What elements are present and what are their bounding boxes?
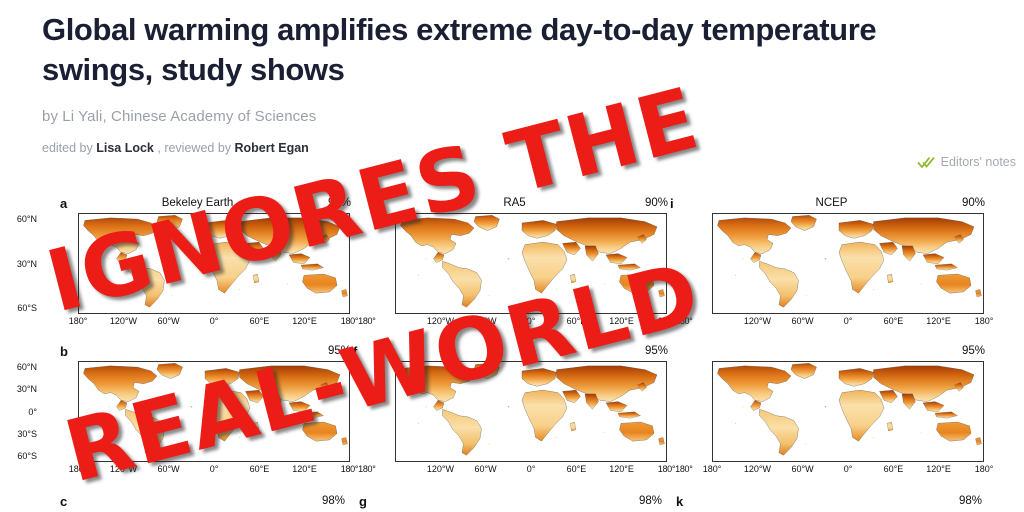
- world-heatmap: [79, 362, 349, 461]
- map-area: [395, 361, 667, 462]
- panel-percentile: 95%: [328, 345, 351, 357]
- map-area: [712, 361, 984, 462]
- panel-letter: k: [676, 494, 683, 509]
- x-axis-labels: 120°W 60°W 0° 60°E 120°E 180°180°: [395, 316, 667, 330]
- reviewer-name[interactable]: Robert Egan: [235, 141, 309, 155]
- x-axis-labels: 180° 120°W 60°W 0° 60°E 120°E 180°: [712, 464, 984, 478]
- map-area: [712, 213, 984, 314]
- figure-panel-j: 95% 180° 120°W 60°W 0° 60°E 120°E 180°: [676, 344, 987, 492]
- figure-row-2: b 95% 60°N 30°N 0° 30°S 60°S 180° 120°W: [42, 344, 1010, 492]
- world-heatmap: [79, 214, 349, 313]
- double-check-icon: [917, 156, 935, 169]
- figure-panel-f: f 95% 120°W 60°W 0° 60°E 120°E 180°180°: [359, 344, 670, 492]
- panel-letter: c: [60, 494, 67, 509]
- panel-percentile: 90%: [962, 197, 985, 209]
- figure-row-3: c 98% g 98% k 98%: [42, 492, 1010, 512]
- map-area: [78, 213, 350, 314]
- editors-notes-link[interactable]: Editors' notes: [917, 155, 1016, 169]
- figure-panel-a: a Bekeley Earth 90% 60°N 30°N 60°S 180° …: [42, 196, 353, 344]
- panel-dataset-title: RA5: [359, 197, 670, 209]
- world-heatmap: [713, 214, 983, 313]
- panel-percentile: 95%: [645, 345, 668, 357]
- panel-percentile: 98%: [322, 495, 345, 507]
- map-frame: [712, 361, 984, 462]
- panel-percentile: 98%: [959, 495, 982, 507]
- map-frame: [78, 361, 350, 462]
- x-axis-labels: 120°W 60°W 0° 60°E 120°E 180°180°: [395, 464, 667, 478]
- map-frame: [712, 213, 984, 314]
- editor-name[interactable]: Lisa Lock: [96, 141, 154, 155]
- editors-notes-label: Editors' notes: [941, 155, 1016, 169]
- panel-letter: g: [359, 494, 367, 509]
- byline: by Li Yali, Chinese Academy of Sciences: [42, 108, 972, 125]
- panel-dataset-title: Bekeley Earth: [42, 197, 353, 209]
- panel-percentile: 98%: [639, 495, 662, 507]
- panel-percentile: 95%: [962, 345, 985, 357]
- x-axis-labels: 120°W 60°W 0° 60°E 120°E 180°: [712, 316, 984, 330]
- world-heatmap: [396, 362, 666, 461]
- panel-percentile: 90%: [645, 197, 668, 209]
- figure-panel-e: RA5 90% 120°W 60°W 0° 60°E 120°E 180°180…: [359, 196, 670, 344]
- credit-line: edited by Lisa Lock , reviewed by Robert…: [42, 141, 972, 155]
- map-frame: [395, 213, 667, 314]
- map-frame: [395, 361, 667, 462]
- world-heatmap: [713, 362, 983, 461]
- figure-panel-b: b 95% 60°N 30°N 0° 30°S 60°S 180° 120°W: [42, 344, 353, 492]
- y-axis-labels: 60°N 30°N 60°S: [6, 213, 40, 314]
- map-area: [395, 213, 667, 314]
- world-heatmap: [396, 214, 666, 313]
- x-axis-labels: 180° 120°W 60°W 0° 60°E 120°E 180°180°: [78, 464, 350, 478]
- map-area: [78, 361, 350, 462]
- panel-percentile: 90%: [328, 197, 351, 209]
- panel-dataset-title: NCEP: [676, 197, 987, 209]
- figure-row-3-strip: c 98% g 98% k 98%: [42, 492, 1010, 512]
- credit-prefix: edited by: [42, 141, 96, 155]
- y-axis-labels: 60°N 30°N 0° 30°S 60°S: [6, 361, 40, 462]
- figure-row-1: a Bekeley Earth 90% 60°N 30°N 60°S 180° …: [42, 196, 1010, 344]
- article-header: Global warming amplifies extreme day-to-…: [42, 10, 972, 155]
- map-frame: [78, 213, 350, 314]
- panel-letter: i: [670, 196, 674, 211]
- x-axis-labels: 180° 120°W 60°W 0° 60°E 120°E 180°180°: [78, 316, 350, 330]
- figure-panel-i: i NCEP 90% 120°W 60°W 0° 60°E 120°E 180°: [676, 196, 987, 344]
- figure-panel-grid: a Bekeley Earth 90% 60°N 30°N 60°S 180° …: [42, 196, 1010, 512]
- panel-letter: b: [60, 344, 68, 359]
- panel-letter: f: [353, 344, 357, 359]
- page-title: Global warming amplifies extreme day-to-…: [42, 10, 942, 91]
- credit-middle: , reviewed by: [157, 141, 234, 155]
